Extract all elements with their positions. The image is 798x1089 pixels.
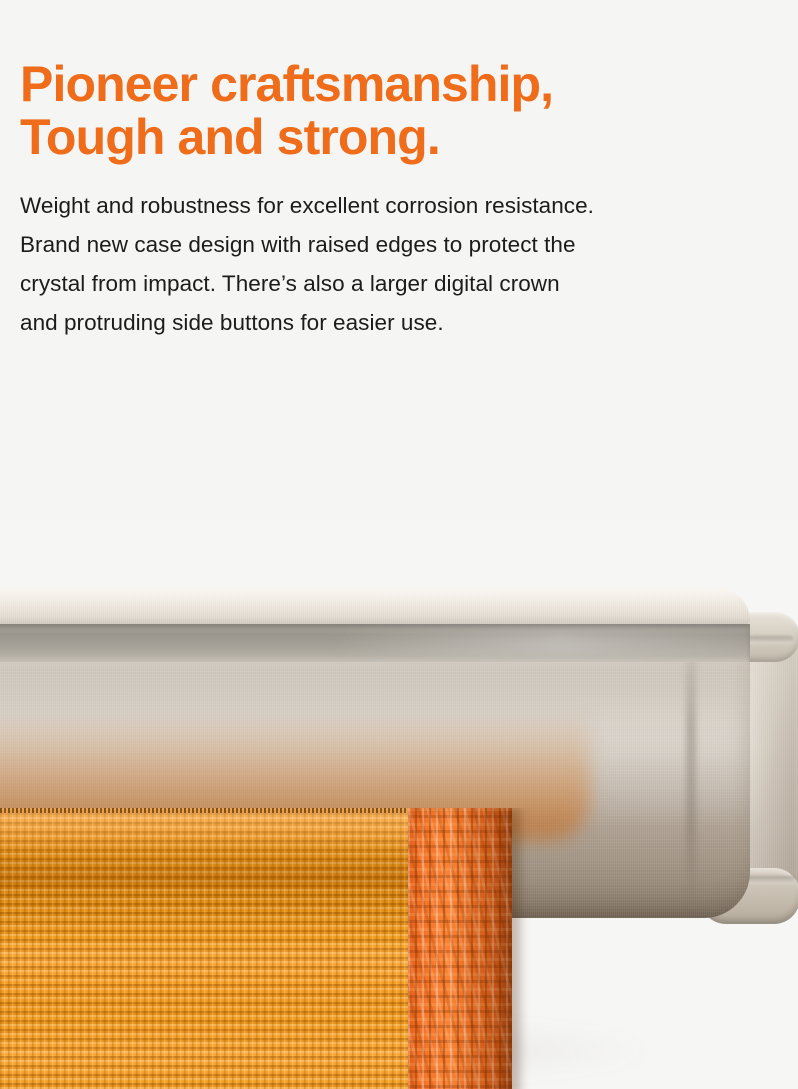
product-image [0, 520, 798, 1089]
page-title: Pioneer craftsmanship, Tough and strong. [20, 58, 780, 164]
description-text: Weight and robustness for excellent corr… [20, 164, 780, 343]
raised-case-edge [0, 588, 750, 624]
copy-block: Pioneer craftsmanship, Tough and strong.… [20, 58, 780, 343]
band-top-seam [0, 808, 425, 813]
product-feature-page: Pioneer craftsmanship, Tough and strong.… [0, 0, 798, 1089]
groove-highlight [330, 628, 750, 656]
raised-edge-grain [0, 588, 750, 624]
trail-loop-band [0, 808, 536, 1089]
band-cast-shadow [450, 808, 520, 1089]
case-guard-seam [686, 630, 696, 910]
band-top-roll-highlight [0, 808, 425, 886]
band-weave-face [0, 808, 425, 1089]
